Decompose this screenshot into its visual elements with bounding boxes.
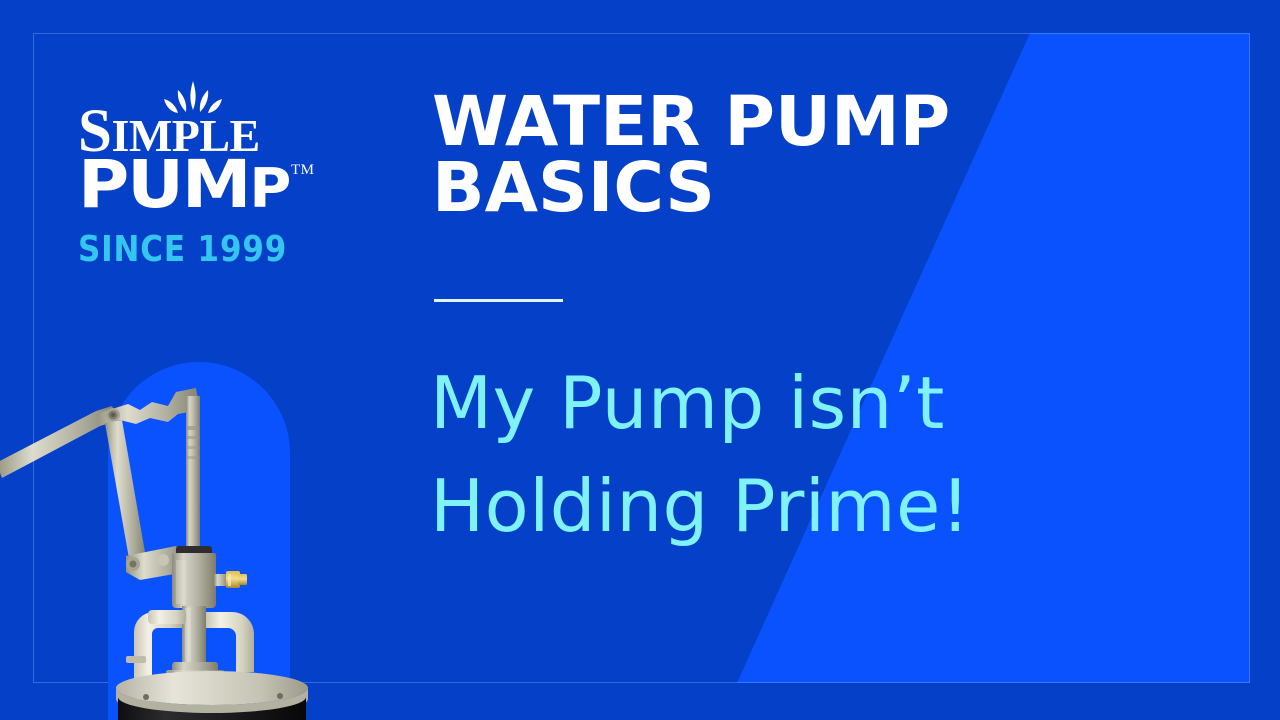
subtitle-line-2: Holding Prime! <box>430 455 1150 558</box>
logo-wordmark-pump: PUMP <box>78 154 289 217</box>
hand-pump-photo <box>0 340 340 720</box>
subtitle: My Pump isn’t Holding Prime! <box>430 352 1150 558</box>
page-title: WATER PUMP BASICS <box>432 90 1132 221</box>
water-splash-icon <box>156 80 230 120</box>
pump-illustration <box>0 340 340 720</box>
title-line-2: BASICS <box>432 156 1132 222</box>
logo-wordmark-pump-row: PUMP TM <box>78 154 328 217</box>
brand-logo: SIMPLE PUMP TM SINCE 1999 <box>78 78 328 270</box>
subtitle-line-1: My Pump isn’t <box>430 352 1150 455</box>
slide-canvas: SIMPLE PUMP TM SINCE 1999 WATER PUMP BAS… <box>0 0 1280 720</box>
title-divider <box>434 299 563 302</box>
trademark-symbol: TM <box>291 162 315 179</box>
title-line-1: WATER PUMP <box>432 90 1132 156</box>
logo-tagline: SINCE 1999 <box>78 229 293 270</box>
logo-pump-pum: PUM <box>78 146 249 223</box>
logo-pump-p: P <box>249 157 289 220</box>
